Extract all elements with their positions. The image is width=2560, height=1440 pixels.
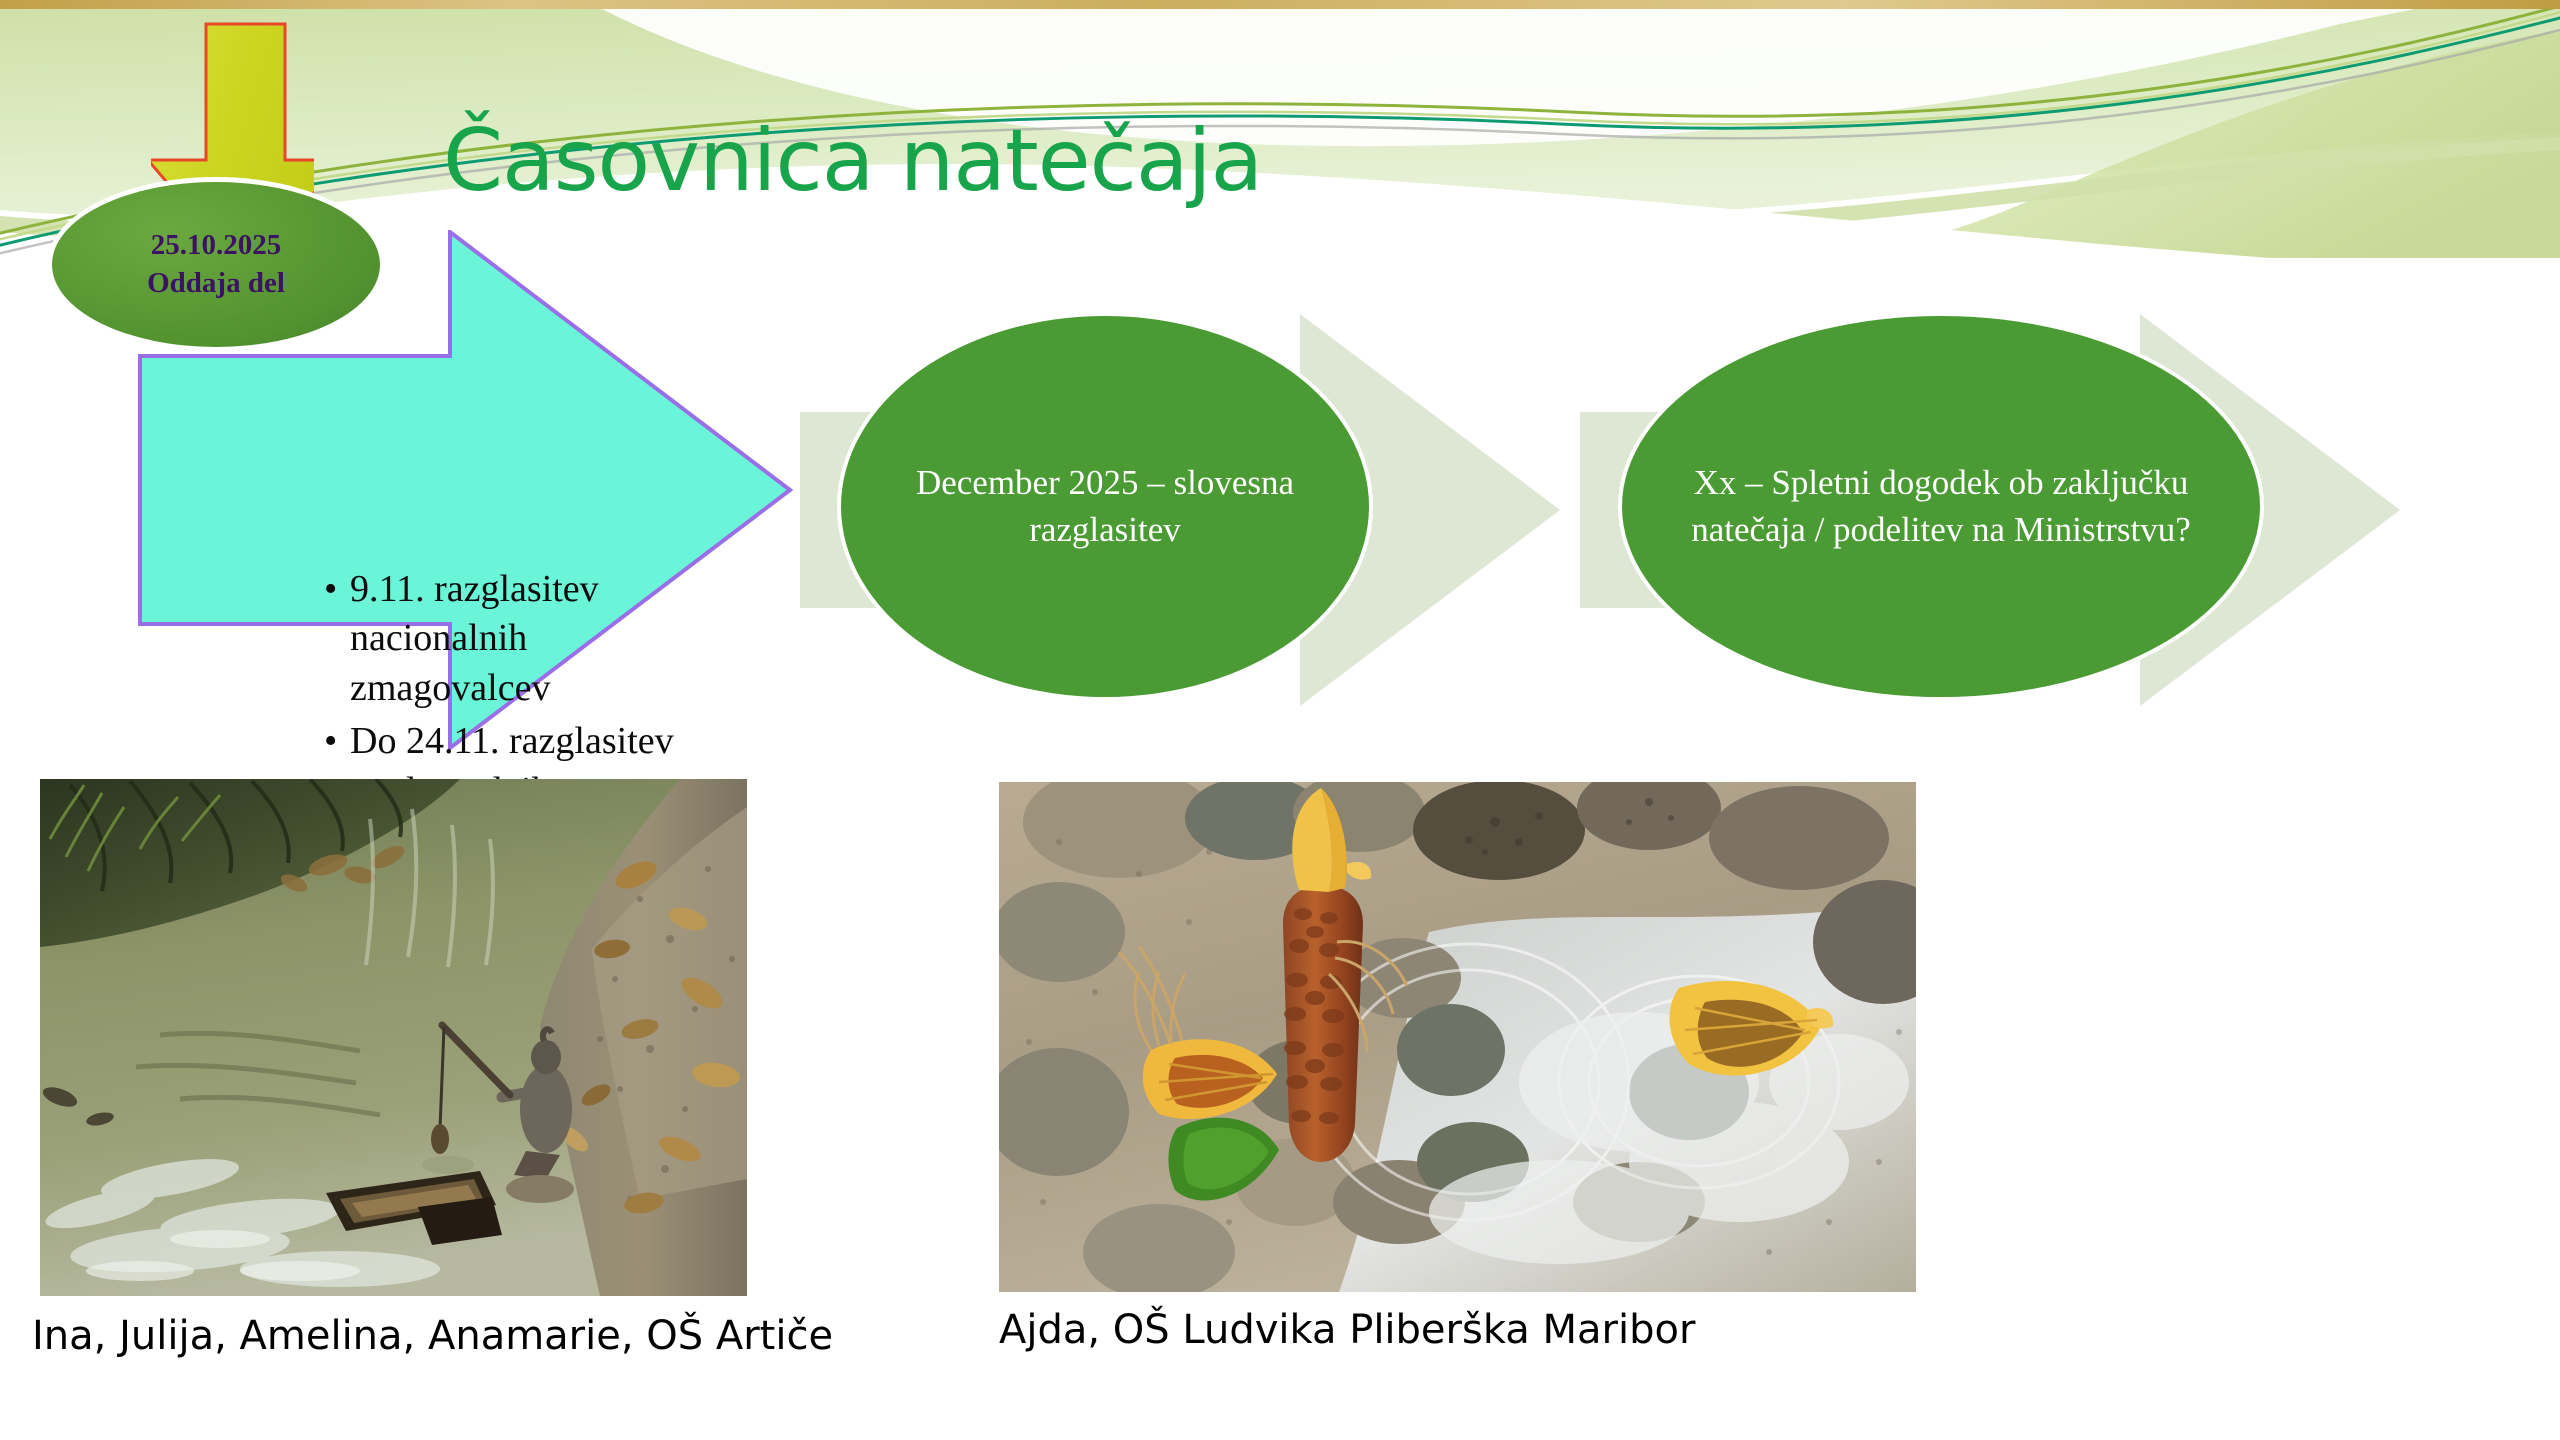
stage1-date: 25.10.2025 bbox=[147, 227, 285, 264]
timeline-stage-2: December 2025 – slovesna razglasitev bbox=[841, 316, 1369, 697]
timeline-stage-1: 25.10.2025 Oddaja del bbox=[52, 182, 380, 347]
photo-stream-figurine bbox=[40, 779, 747, 1296]
stage2-label: December 2025 – slovesna razglasitev bbox=[841, 460, 1369, 553]
stage3-label: Xx – Spletni dogodek ob zaključku nateča… bbox=[1622, 460, 2260, 553]
photo-pinecone-boat bbox=[999, 782, 1916, 1292]
photo-2-caption: Ajda, OŠ Ludvika Pliberška Maribor bbox=[999, 1307, 1695, 1353]
slide: Časovnica natečaja bbox=[0, 0, 2560, 1440]
timeline-stage-3: Xx – Spletni dogodek ob zaključku nateča… bbox=[1622, 316, 2260, 697]
bullet-item: 9.11. razglasitev nacionalnih zmagovalce… bbox=[350, 565, 682, 713]
photo-1-caption: Ina, Julija, Amelina, Anamarie, OŠ Artič… bbox=[32, 1313, 833, 1359]
stage1-label: Oddaja del bbox=[147, 265, 285, 302]
timeline-band: 9.11. razglasitev nacionalnih zmagovalce… bbox=[0, 170, 2560, 790]
